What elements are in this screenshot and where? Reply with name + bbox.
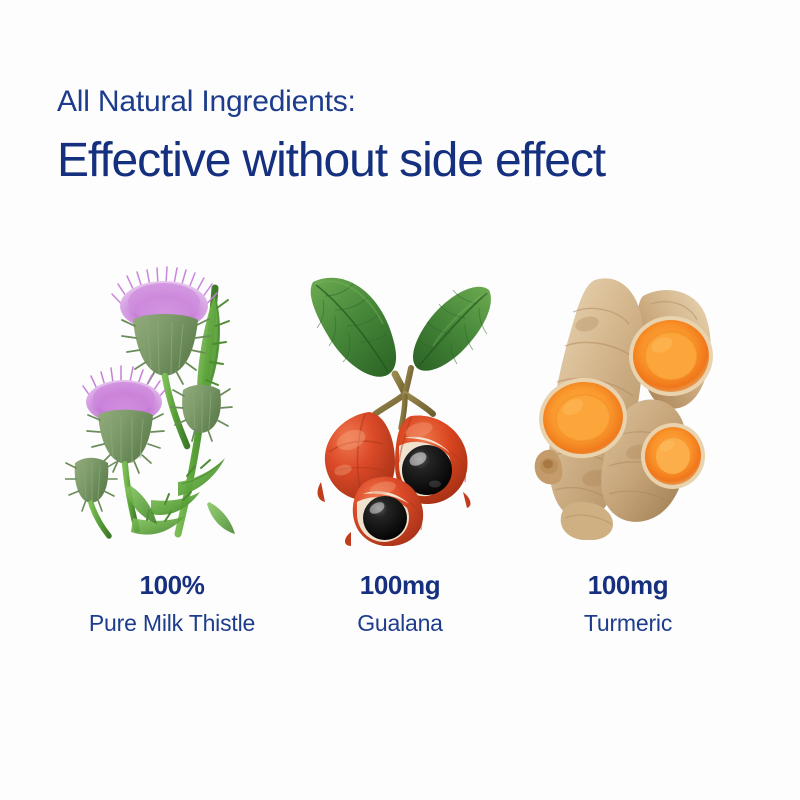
ingredient-amount: 100mg — [360, 570, 440, 600]
ingredient-name: Turmeric — [584, 609, 672, 637]
guarana-image — [299, 256, 509, 546]
ingredient-amount: 100% — [140, 570, 205, 600]
thistle-bud — [65, 458, 117, 536]
ingredient-name: Pure Milk Thistle — [89, 609, 255, 637]
ingredient-name: Gualana — [357, 609, 443, 637]
ingredient-list: 100% Pure Milk Thistle — [0, 250, 800, 637]
ingredient-amount: 100mg — [588, 570, 668, 600]
guarana-leaf-left — [311, 278, 396, 377]
page-title: Effective without side effect — [57, 130, 757, 192]
turmeric-image — [525, 250, 735, 540]
heading-block: All Natural Ingredients: Effective witho… — [57, 82, 757, 192]
turmeric-cut-face-top — [629, 316, 713, 396]
promo-page: All Natural Ingredients: Effective witho… — [0, 0, 800, 800]
ingredient-item-guarana: 100mg Gualana — [286, 250, 514, 637]
ingredient-item-turmeric: 100mg Turmeric — [514, 250, 742, 637]
milk-thistle-image — [65, 250, 275, 540]
eyebrow-text: All Natural Ingredients: — [57, 82, 757, 122]
ingredient-item-milk-thistle: 100% Pure Milk Thistle — [58, 250, 286, 637]
guarana-leaf-right — [413, 287, 491, 371]
